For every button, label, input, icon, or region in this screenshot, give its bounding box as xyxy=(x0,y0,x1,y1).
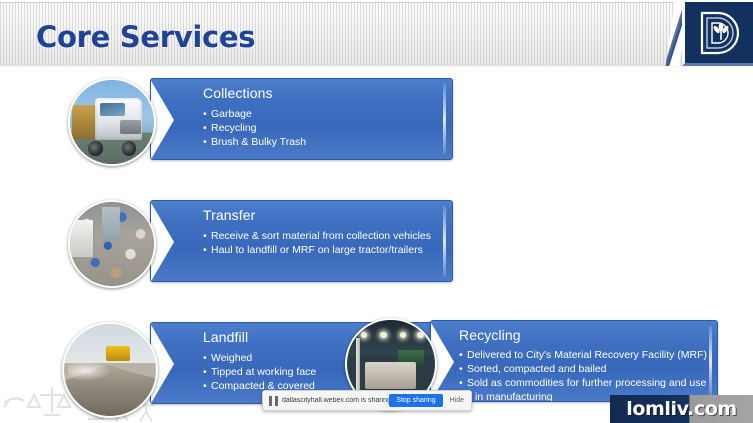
banner-highlight xyxy=(443,84,446,154)
collections-title: Collections xyxy=(203,85,273,101)
landfill-dozer-photo xyxy=(62,322,158,418)
bullet: Sold as commodities for further processi… xyxy=(459,376,707,390)
sharing-message: dallascityhall.webex.com is sharing your… xyxy=(282,397,389,404)
logo-box xyxy=(682,2,753,66)
collections-bullets: Garbage Recycling Brush & Bulky Trash xyxy=(203,107,306,149)
recycling-banner: Recycling Delivered to City's Material R… xyxy=(430,320,718,402)
transfer-title: Transfer xyxy=(203,207,255,223)
stop-sharing-button[interactable]: Stop sharing xyxy=(389,394,442,407)
hide-button[interactable]: Hide xyxy=(447,394,467,407)
site-watermark: lomliv.com xyxy=(610,395,753,423)
dallas-d-monogram-icon xyxy=(699,10,743,56)
scales-icon xyxy=(28,387,70,415)
pause-icon xyxy=(269,396,278,406)
garbage-truck-photo xyxy=(68,78,156,166)
gavel-icon xyxy=(4,398,24,407)
bullet: Delivered to City's Material Recovery Fa… xyxy=(459,348,707,362)
presentation-slide: Core Services Collections xyxy=(0,0,753,423)
transfer-bullets: Receive & sort material from collection … xyxy=(203,229,431,257)
banner-highlight xyxy=(443,206,446,276)
transfer-station-photo xyxy=(68,200,156,288)
header-bottom-rule xyxy=(0,65,753,67)
bullet: Brush & Bulky Trash xyxy=(203,135,306,149)
bullet: Haul to landfill or MRF on large tractor… xyxy=(203,243,431,257)
recycling-bullets: Delivered to City's Material Recovery Fa… xyxy=(459,348,707,402)
screen-sharing-notification[interactable]: dallascityhall.webex.com is sharing your… xyxy=(262,390,472,411)
city-of-dallas-logo xyxy=(670,2,753,66)
collections-banner: Collections Garbage Recycling Brush & Bu… xyxy=(150,78,453,160)
bullet: Garbage xyxy=(203,107,306,121)
bullet: Weighed xyxy=(203,351,316,365)
bullet: Recycling xyxy=(203,121,306,135)
bullet: Tipped at working face xyxy=(203,365,316,379)
transfer-banner: Transfer Receive & sort material from co… xyxy=(150,200,453,282)
page-title: Core Services xyxy=(36,20,255,54)
bullet: Sorted, compacted and bailed xyxy=(459,362,707,376)
site-watermark-text: lomliv.com xyxy=(626,398,737,420)
landfill-bullets: Weighed Tipped at working face Compacted… xyxy=(203,351,316,393)
bullet: Receive & sort material from collection … xyxy=(203,229,431,243)
banner-highlight xyxy=(709,326,712,396)
recycling-title: Recycling xyxy=(459,327,521,343)
landfill-title: Landfill xyxy=(203,329,248,345)
header-top-rule xyxy=(0,2,753,3)
